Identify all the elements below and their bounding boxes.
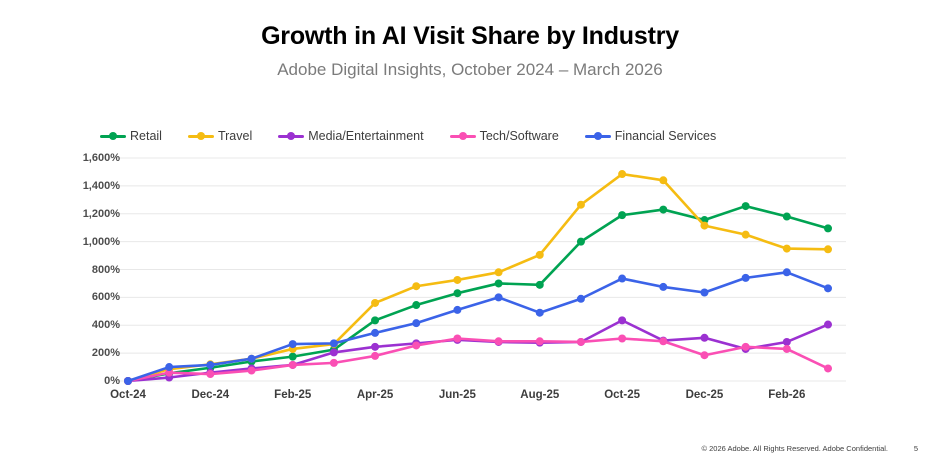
series-financial-services[interactable] bbox=[124, 268, 832, 385]
data-point[interactable] bbox=[618, 170, 626, 178]
data-point[interactable] bbox=[824, 245, 832, 253]
slide-footer: © 2026 Adobe. All Rights Reserved. Adobe… bbox=[0, 444, 940, 460]
data-point[interactable] bbox=[618, 316, 626, 324]
series-line bbox=[128, 206, 828, 381]
data-point[interactable] bbox=[783, 338, 791, 346]
y-axis: 0%200%400%600%800%1,000%1,200%1,400%1,60… bbox=[58, 150, 120, 390]
y-axis-tick-label: 600% bbox=[58, 291, 120, 303]
data-point[interactable] bbox=[659, 283, 667, 291]
data-point[interactable] bbox=[577, 201, 585, 209]
data-point[interactable] bbox=[700, 334, 708, 342]
data-point[interactable] bbox=[783, 268, 791, 276]
footer-copyright: © 2026 Adobe. All Rights Reserved. Adobe… bbox=[702, 444, 888, 453]
x-axis-tick-label: Feb-26 bbox=[768, 389, 805, 401]
data-point[interactable] bbox=[371, 329, 379, 337]
x-axis-tick-label: Jun-25 bbox=[439, 389, 476, 401]
data-point[interactable] bbox=[700, 289, 708, 297]
y-axis-tick-label: 800% bbox=[58, 264, 120, 276]
data-point[interactable] bbox=[536, 251, 544, 259]
data-point[interactable] bbox=[536, 337, 544, 345]
data-point[interactable] bbox=[371, 316, 379, 324]
data-point[interactable] bbox=[783, 345, 791, 353]
y-axis-tick-label: 200% bbox=[58, 347, 120, 359]
y-axis-tick-label: 1,400% bbox=[58, 180, 120, 192]
x-axis-tick-label: Dec-25 bbox=[686, 389, 724, 401]
data-point[interactable] bbox=[206, 370, 214, 378]
slide-canvas: Growth in AI Visit Share by Industry Ado… bbox=[0, 0, 940, 476]
data-point[interactable] bbox=[124, 377, 132, 385]
x-axis: Oct-24Dec-24Feb-25Apr-25Jun-25Aug-25Oct-… bbox=[0, 389, 940, 407]
data-point[interactable] bbox=[495, 337, 503, 345]
data-point[interactable] bbox=[659, 337, 667, 345]
data-point[interactable] bbox=[536, 281, 544, 289]
data-point[interactable] bbox=[412, 319, 420, 327]
data-point[interactable] bbox=[453, 276, 461, 284]
series-line bbox=[128, 174, 828, 381]
data-point[interactable] bbox=[536, 309, 544, 317]
data-point[interactable] bbox=[824, 284, 832, 292]
data-point[interactable] bbox=[371, 352, 379, 360]
data-point[interactable] bbox=[330, 359, 338, 367]
data-point[interactable] bbox=[577, 295, 585, 303]
series-line bbox=[128, 338, 828, 381]
data-point[interactable] bbox=[289, 353, 297, 361]
data-point[interactable] bbox=[700, 351, 708, 359]
data-point[interactable] bbox=[577, 338, 585, 346]
data-point[interactable] bbox=[824, 321, 832, 329]
data-point[interactable] bbox=[742, 231, 750, 239]
y-axis-tick-label: 1,000% bbox=[58, 236, 120, 248]
y-axis-tick-label: 400% bbox=[58, 319, 120, 331]
data-point[interactable] bbox=[783, 245, 791, 253]
data-point[interactable] bbox=[289, 361, 297, 369]
data-point[interactable] bbox=[289, 340, 297, 348]
data-point[interactable] bbox=[618, 334, 626, 342]
data-point[interactable] bbox=[577, 238, 585, 246]
data-point[interactable] bbox=[412, 282, 420, 290]
data-point[interactable] bbox=[453, 306, 461, 314]
data-point[interactable] bbox=[618, 211, 626, 219]
data-point[interactable] bbox=[371, 343, 379, 351]
y-axis-tick-label: 1,200% bbox=[58, 208, 120, 220]
data-point[interactable] bbox=[495, 279, 503, 287]
data-point[interactable] bbox=[371, 299, 379, 307]
data-point[interactable] bbox=[330, 348, 338, 356]
data-point[interactable] bbox=[330, 339, 338, 347]
data-point[interactable] bbox=[412, 301, 420, 309]
y-axis-tick-label: 0% bbox=[58, 375, 120, 387]
x-axis-tick-label: Oct-25 bbox=[604, 389, 640, 401]
data-point[interactable] bbox=[248, 355, 256, 363]
data-point[interactable] bbox=[618, 275, 626, 283]
x-axis-tick-label: Feb-25 bbox=[274, 389, 311, 401]
x-axis-tick-label: Dec-24 bbox=[191, 389, 229, 401]
data-point[interactable] bbox=[742, 274, 750, 282]
x-axis-tick-label: Apr-25 bbox=[357, 389, 393, 401]
data-point[interactable] bbox=[824, 364, 832, 372]
data-point[interactable] bbox=[659, 176, 667, 184]
data-point[interactable] bbox=[495, 268, 503, 276]
data-point[interactable] bbox=[824, 224, 832, 232]
data-point[interactable] bbox=[742, 202, 750, 210]
x-axis-tick-label: Aug-25 bbox=[520, 389, 559, 401]
data-point[interactable] bbox=[453, 289, 461, 297]
data-point[interactable] bbox=[453, 334, 461, 342]
y-axis-tick-label: 1,600% bbox=[58, 152, 120, 164]
data-point[interactable] bbox=[412, 341, 420, 349]
data-point[interactable] bbox=[248, 367, 256, 375]
data-point[interactable] bbox=[783, 213, 791, 221]
data-point[interactable] bbox=[165, 363, 173, 371]
footer-page-number: 5 bbox=[914, 444, 918, 453]
x-axis-tick-label: Oct-24 bbox=[110, 389, 146, 401]
data-point[interactable] bbox=[742, 343, 750, 351]
data-point[interactable] bbox=[659, 206, 667, 214]
data-point[interactable] bbox=[700, 222, 708, 230]
data-point[interactable] bbox=[495, 293, 503, 301]
data-point[interactable] bbox=[206, 361, 214, 369]
